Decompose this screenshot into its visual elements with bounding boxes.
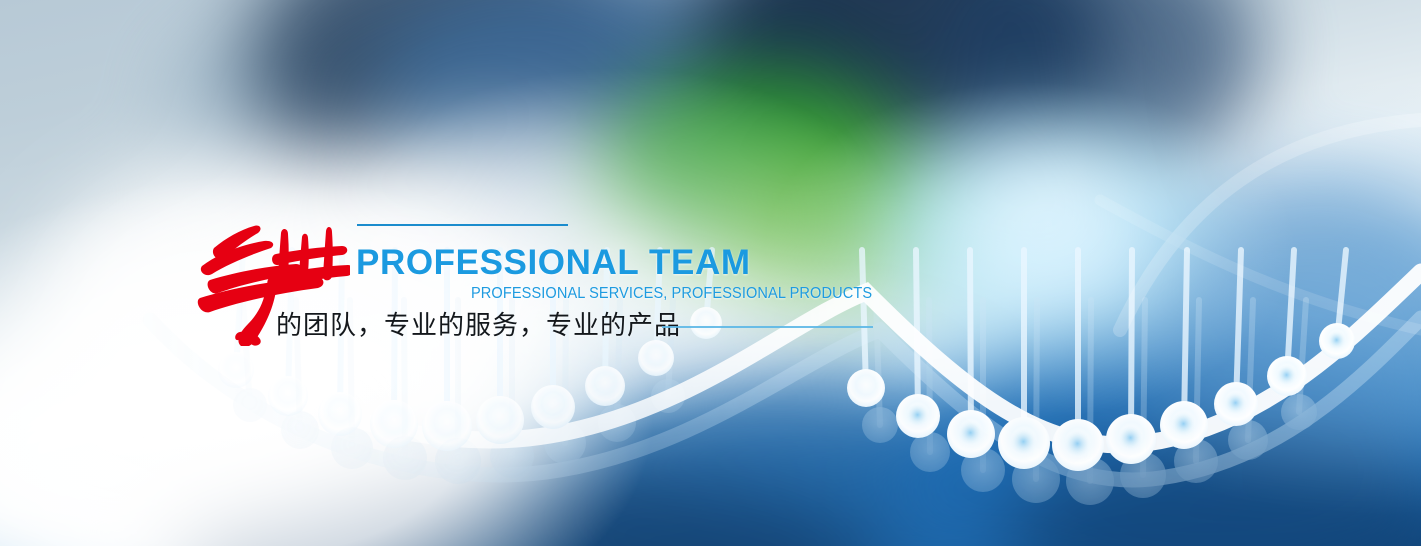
banner-tagline: 的团队，专业的服务，专业的产品 [276, 305, 681, 342]
banner-text-block: PROFESSIONAL TEAM PROFESSIONAL SERVICES,… [0, 0, 1421, 546]
professional-team-banner: PROFESSIONAL TEAM PROFESSIONAL SERVICES,… [0, 0, 1421, 546]
title-rule-top [357, 224, 568, 226]
title-rule-bottom [662, 326, 873, 328]
banner-title: PROFESSIONAL TEAM [356, 243, 751, 283]
banner-subtitle: PROFESSIONAL SERVICES, PROFESSIONAL PROD… [471, 285, 872, 303]
